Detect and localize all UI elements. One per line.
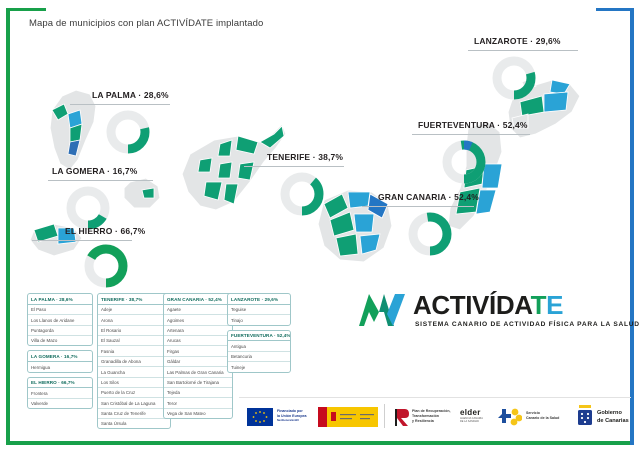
table-column-4: LANZAROTE · 29,6% Teguise Tinajo FUERTEV… xyxy=(227,293,291,377)
group-la-gomera: LA GOMERA · 16,7% Hermigua xyxy=(27,350,93,372)
list-item: Santa Úrsula xyxy=(98,419,170,428)
donut-chart-fuerteventura xyxy=(440,138,488,186)
footer-divider xyxy=(239,397,631,398)
list-item: El Paso xyxy=(28,305,92,315)
canarias-line1: Gobierno xyxy=(597,410,629,418)
brand-name-part2: T xyxy=(531,290,546,320)
donut-label-la-gomera: LA GOMERA · 16,7% xyxy=(52,166,138,176)
donut-chart-la-gomera xyxy=(64,184,112,232)
footer-vertical-divider xyxy=(384,404,385,428)
activate-mark-icon xyxy=(357,290,413,330)
list-item: Fasnia xyxy=(98,346,170,356)
list-item: Vega de San Mateo xyxy=(164,409,232,418)
group-el-hierro: EL HIERRO · 66,7% Frontera Valverde xyxy=(27,377,93,410)
list-item: Arona xyxy=(98,315,170,325)
donut-label-tenerife: TENERIFE · 38,7% xyxy=(267,152,343,162)
list-item: Los Llanos de Aridane xyxy=(28,315,92,325)
donut-label-el-hierro: EL HIERRO · 66,7% xyxy=(65,226,145,236)
table-column-1: LA PALMA · 28,6% El Paso Los Llanos de A… xyxy=(27,293,93,413)
elder-sub2: DE LA SANIDAD xyxy=(460,420,483,423)
list-item: Gáldar xyxy=(164,357,232,367)
frame-border-right xyxy=(630,8,634,445)
list-item: Adeje xyxy=(98,305,170,315)
group-header: LA PALMA · 28,6% xyxy=(28,294,92,305)
group-fuerteventura: FUERTEVENTURA · 52,4% Antigua Betancuria… xyxy=(227,330,291,373)
frame-border-left xyxy=(6,8,10,445)
list-item: Agaete xyxy=(164,305,232,315)
gobierno-de-espana-logo xyxy=(318,407,378,427)
list-item: Las Palmas de Gran Canaria xyxy=(164,367,232,377)
elder-logo: elder AGENCIA CANARIA DE LA SANIDAD xyxy=(460,408,483,424)
health-line2: Canario de la Salud xyxy=(526,416,559,421)
leader-line-gran-canaria xyxy=(362,206,474,207)
list-item: Teguise xyxy=(228,305,290,315)
page-title: Mapa de municipios con plan ACTIVÍDATE i… xyxy=(29,18,263,29)
list-item: Teror xyxy=(164,398,232,408)
list-item: Puntagorda xyxy=(28,326,92,336)
group-la-palma: LA PALMA · 28,6% El Paso Los Llanos de A… xyxy=(27,293,93,346)
list-item: Hermigua xyxy=(28,362,92,371)
list-item: Artenara xyxy=(164,326,232,336)
group-tenerife: TENERIFE · 38,7% Adeje Arona El Rosario … xyxy=(97,293,171,429)
frame-border-bottom xyxy=(6,441,634,445)
list-item: Firgas xyxy=(164,346,232,356)
gobierno-de-canarias-text: Gobierno de Canarias xyxy=(597,410,629,425)
list-item: Agüimes xyxy=(164,315,232,325)
recovery-line3: y Resiliencia xyxy=(412,419,451,424)
group-header: LA GOMERA · 16,7% xyxy=(28,351,92,362)
infographic-root: Mapa de municipios con plan ACTIVÍDATE i… xyxy=(0,0,640,453)
eu-funding-text: Financiado por la Unión Europea NextGene… xyxy=(277,409,307,422)
group-header: TENERIFE · 38,7% xyxy=(98,294,170,305)
list-item: San Cristóbal de La Laguna xyxy=(98,398,170,408)
donut-chart-lanzarote xyxy=(490,54,538,102)
group-lanzarote: LANZAROTE · 29,6% Teguise Tinajo xyxy=(227,293,291,326)
group-header: LANZAROTE · 29,6% xyxy=(228,294,290,305)
leader-line-la-palma xyxy=(70,104,170,105)
list-item: Betancuria xyxy=(228,352,290,362)
group-header: GRAN CANARIA · 52,4% xyxy=(164,294,232,305)
donut-chart-tenerife xyxy=(278,170,326,218)
donut-chart-el-hierro xyxy=(82,242,130,290)
servicio-canario-salud-icon xyxy=(498,406,522,428)
brand-name: ACTIVÍDATE xyxy=(413,290,563,321)
island-tenerife xyxy=(182,124,286,210)
table-column-2: TENERIFE · 38,7% Adeje Arona El Rosario … xyxy=(97,293,171,433)
table-column-3: GRAN CANARIA · 52,4% Agaete Agüimes Arte… xyxy=(163,293,233,423)
list-item: Villa de Mazo xyxy=(28,336,92,345)
group-header: EL HIERRO · 66,7% xyxy=(28,378,92,389)
donut-label-fuerteventura: FUERTEVENTURA · 52,4% xyxy=(418,120,528,130)
list-item: Tejeda xyxy=(164,388,232,398)
donut-label-lanzarote: LANZAROTE · 29,6% xyxy=(474,36,561,46)
list-item: Granadilla de Abona xyxy=(98,357,170,367)
donut-chart-la-palma xyxy=(104,108,152,156)
island-la-gomera xyxy=(124,178,160,208)
list-item: Valverde xyxy=(28,399,92,408)
list-item: Los Silos xyxy=(98,378,170,388)
list-item: Puerto de la Cruz xyxy=(98,388,170,398)
brand-name-part3: E xyxy=(546,290,563,320)
plan-recuperacion-icon xyxy=(394,407,410,427)
elder-name: elder xyxy=(460,408,483,417)
island-la-palma xyxy=(50,90,96,170)
brand-tagline: SISTEMA CANARIO DE ACTIVIDAD FÍSICA PARA… xyxy=(415,321,640,328)
list-item: El Sauzal xyxy=(98,336,170,346)
list-item: Santa Cruz de Tenerife xyxy=(98,409,170,419)
list-item: Frontera xyxy=(28,388,92,398)
leader-line-la-gomera xyxy=(48,180,153,181)
frame-border-top-right xyxy=(596,8,634,11)
list-item: Tinajo xyxy=(228,315,290,324)
donut-chart-gran-canaria xyxy=(406,210,454,258)
leader-line-el-hierro xyxy=(32,240,132,241)
group-gran-canaria: GRAN CANARIA · 52,4% Agaete Agüimes Arte… xyxy=(163,293,233,419)
group-header: FUERTEVENTURA · 52,4% xyxy=(228,331,290,342)
donut-label-gran-canaria: GRAN CANARIA · 52,4% xyxy=(378,192,479,202)
leader-line-fuerteventura xyxy=(412,134,530,135)
list-item: Tuineje xyxy=(228,362,290,371)
list-item: Antigua xyxy=(228,341,290,351)
leader-line-lanzarote xyxy=(468,50,578,51)
list-item: El Rosario xyxy=(98,326,170,336)
leader-line-tenerife xyxy=(244,166,344,167)
eu-line2: la Unión Europea xyxy=(277,414,307,419)
list-item: La Guancha xyxy=(98,367,170,377)
eu-flag-icon xyxy=(247,408,273,426)
brand-name-part1: ACTIVÍDA xyxy=(413,290,531,320)
list-item: Arucas xyxy=(164,336,232,346)
servicio-canario-salud-text: Servicio Canario de la Salud xyxy=(526,411,559,421)
canarias-line2: de Canarias xyxy=(597,418,629,426)
frame-border-top-left xyxy=(6,8,46,11)
donut-label-la-palma: LA PALMA · 28,6% xyxy=(92,90,169,100)
plan-recuperacion-text: Plan de Recuperación, Transformación y R… xyxy=(412,409,451,424)
eu-line3: NextGenerationEU xyxy=(277,419,307,422)
gobierno-de-canarias-shield-icon xyxy=(576,403,594,427)
list-item: San Bartolomé de Tirajana xyxy=(164,378,232,388)
